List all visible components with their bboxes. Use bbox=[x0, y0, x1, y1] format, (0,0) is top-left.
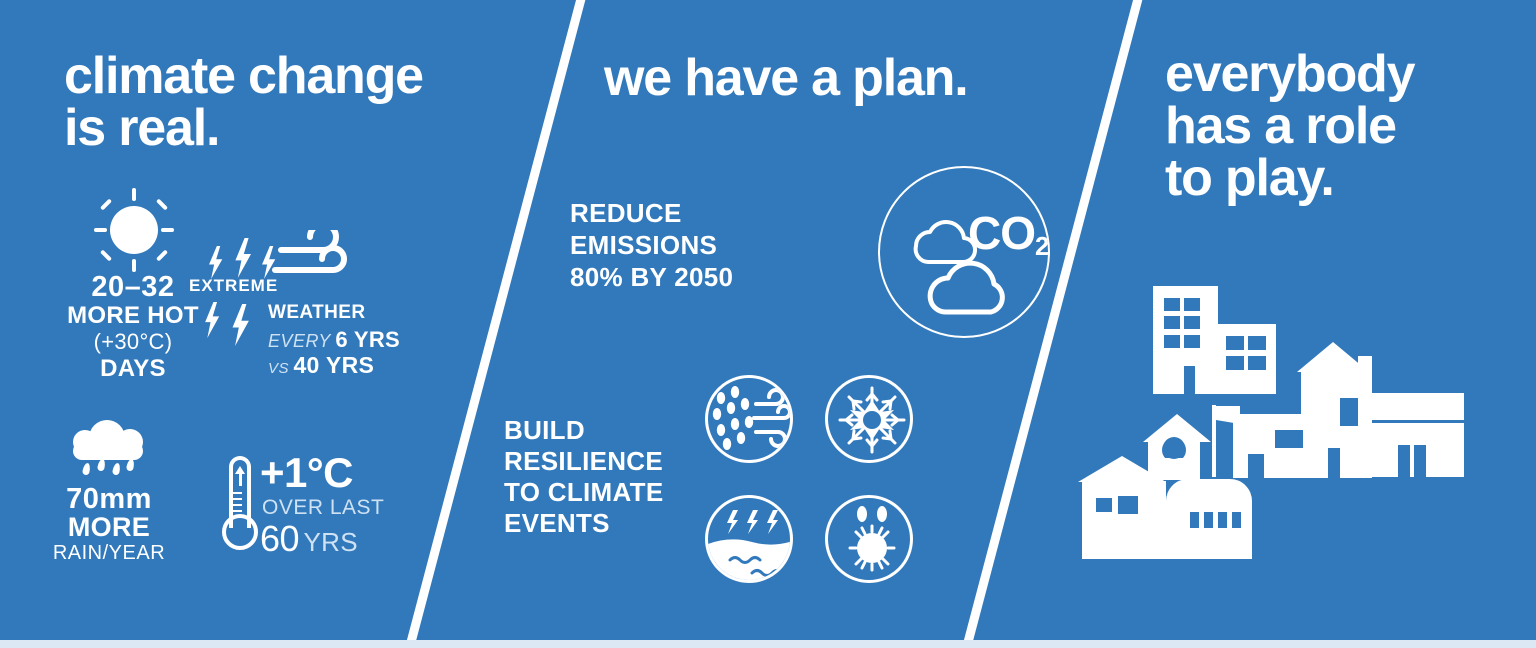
panel-2-heading: we have a plan. bbox=[604, 52, 1074, 104]
climate-infographic: climate change is real. 20–32 MORE HOT (… bbox=[0, 0, 1536, 648]
lightning-bolt-icon bbox=[203, 302, 221, 338]
build-resilience-line-2: RESILIENCE bbox=[504, 446, 663, 476]
rain-line-3: RAIN/YEAR bbox=[25, 541, 193, 566]
lightning-bolt-icon bbox=[230, 304, 251, 346]
weather-word: WEATHER bbox=[268, 302, 365, 324]
panel-3-heading: everybody has a role to play. bbox=[1165, 48, 1525, 204]
stat-extreme-weather: EXTREME WEATHER EVERY 6 YRS VS 40 YRS bbox=[185, 222, 415, 367]
rain-line-2: MORE bbox=[25, 514, 193, 541]
lightning-bolt-icon bbox=[207, 246, 224, 279]
build-resilience-line-4: EVENTS bbox=[504, 508, 610, 538]
vs-value: 40 YRS bbox=[293, 352, 374, 378]
build-resilience-line-3: TO CLIMATE bbox=[504, 477, 663, 507]
city-buildings-icon bbox=[1070, 280, 1470, 570]
stat-more-rain: 70mm MORE RAIN/YEAR bbox=[25, 412, 193, 566]
reduce-emissions-line-2: EMISSIONS bbox=[570, 230, 717, 260]
panel-we-have-a-plan: we have a plan. REDUCE EMISSIONS 80% BY … bbox=[500, 0, 1060, 640]
vs-label: VS bbox=[268, 360, 289, 377]
stat-temperature-rise: +1°C OVER LAST 60 YRS bbox=[212, 452, 412, 572]
every-value: 6 YRS bbox=[335, 327, 400, 352]
bottom-strip bbox=[0, 640, 1536, 648]
drought-sun-circle-icon bbox=[825, 495, 913, 583]
flood-storm-circle-icon bbox=[705, 495, 793, 583]
rain-wind-circle-icon bbox=[705, 375, 793, 463]
panel-1-heading: climate change is real. bbox=[64, 50, 494, 154]
snowflake-circle-icon bbox=[825, 375, 913, 463]
thermometer-icon bbox=[218, 456, 264, 562]
rain-line-1: 70mm bbox=[25, 484, 193, 514]
rain-cloud-icon bbox=[25, 412, 193, 484]
co2-label-subscript: 2 bbox=[1035, 231, 1048, 261]
build-resilience-line-1: BUILD bbox=[504, 415, 585, 445]
extreme-word: EXTREME bbox=[189, 276, 278, 296]
reduce-emissions-line-1: REDUCE bbox=[570, 198, 682, 228]
temperature-sub-unit: YRS bbox=[304, 527, 358, 557]
lightning-bolt-icon bbox=[233, 238, 253, 278]
temperature-sub-number: 60 bbox=[260, 518, 299, 559]
co2-clouds-circle-icon: CO2 bbox=[878, 166, 1050, 338]
wind-swirl-icon bbox=[271, 230, 359, 292]
temperature-sub-top: OVER LAST bbox=[262, 496, 384, 520]
temperature-value: +1°C bbox=[260, 452, 353, 494]
every-label: EVERY bbox=[268, 331, 331, 351]
panel-everybody-has-a-role: everybody has a role to play. bbox=[1060, 0, 1536, 640]
co2-label: CO bbox=[968, 207, 1035, 259]
reduce-emissions-line-3: 80% BY 2050 bbox=[570, 262, 733, 292]
panel-climate-change-is-real: climate change is real. 20–32 MORE HOT (… bbox=[0, 0, 500, 640]
